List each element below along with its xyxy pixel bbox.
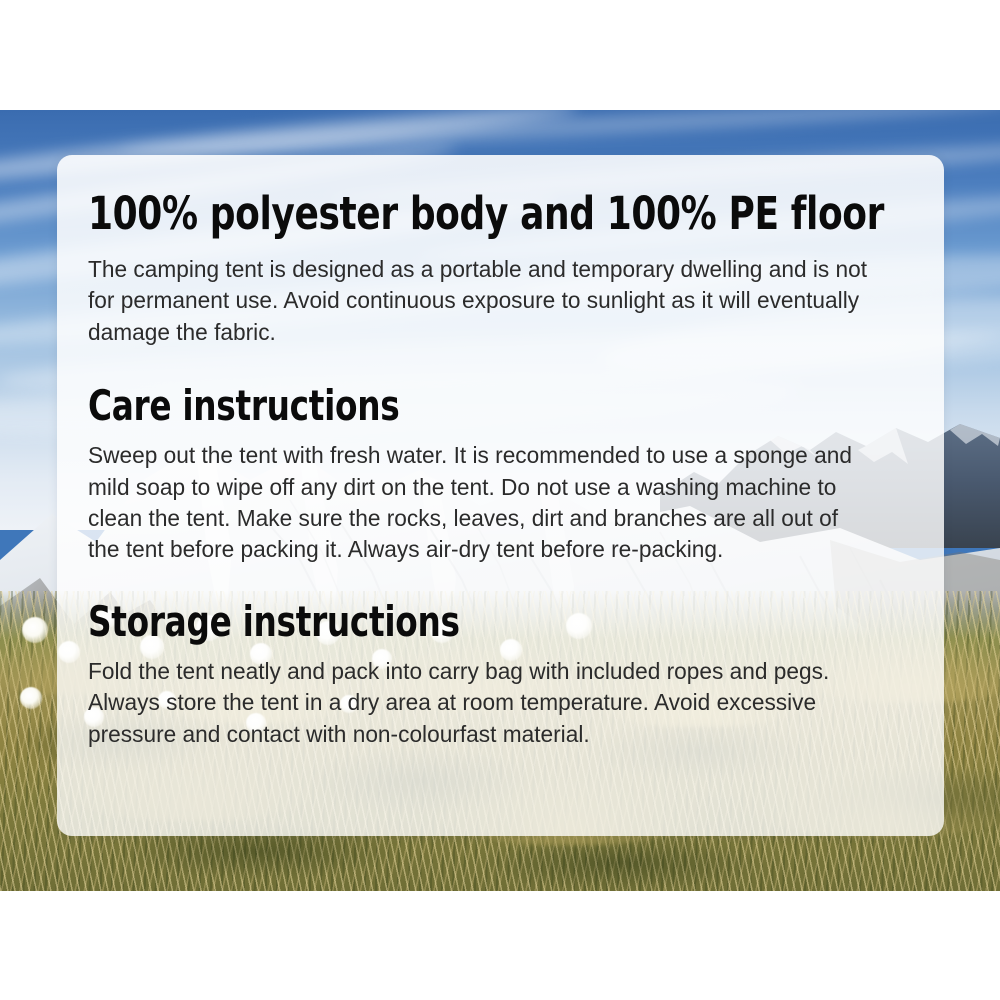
section-spacer	[88, 566, 900, 600]
section-heading-storage: Storage instructions	[88, 600, 721, 644]
section-body-care: Sweep out the tent with fresh water. It …	[88, 440, 872, 566]
dandelion-puff-icon	[20, 687, 42, 709]
info-card: 100% polyester body and 100% PE floor Th…	[57, 155, 944, 836]
section-heading-care: Care instructions	[88, 384, 721, 428]
section-body-polyester: The camping tent is designed as a portab…	[88, 254, 872, 348]
dandelion-puff-icon	[22, 617, 48, 643]
product-info-graphic: 100% polyester body and 100% PE floor Th…	[0, 0, 1000, 1000]
section-spacer	[88, 348, 900, 384]
section-heading-polyester: 100% polyester body and 100% PE floor	[88, 191, 738, 237]
section-body-storage: Fold the tent neatly and pack into carry…	[88, 656, 872, 750]
